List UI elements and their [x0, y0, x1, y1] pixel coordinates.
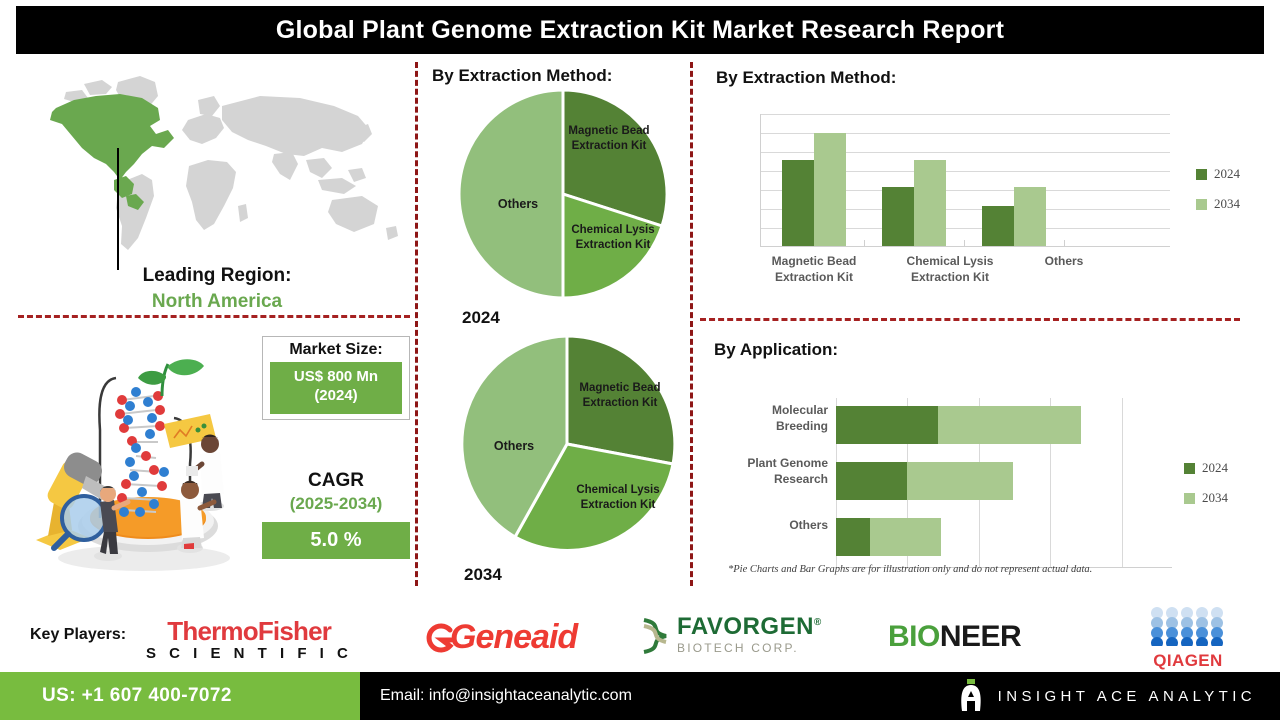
legend-label-2034: 2034 [1202, 490, 1228, 506]
gridline [760, 114, 1170, 115]
segment-2034-plant-genome-research [907, 462, 1013, 500]
pie-2034-slice-label-1: Chemical Lysis Extraction Kit [576, 484, 659, 511]
pie-2024-slice-label-2: Others [498, 197, 538, 211]
application-category-label-others: Others [724, 518, 828, 534]
logo-thermo-fisher: ThermoFisher S C I E N T I F I C [146, 618, 352, 664]
world-map [22, 68, 412, 258]
market-size-card: Market Size: US$ 800 Mn (2024) [262, 336, 410, 420]
insight-ace-logo-icon [958, 679, 984, 713]
logo-qiagen: QIAGEN [1148, 606, 1228, 671]
qiagen-dots-icon [1148, 606, 1228, 646]
application-category-label-molecular-breeding: Molecular Breeding [724, 403, 828, 434]
registered-mark-icon: ® [814, 617, 822, 628]
bar-2024-chemical-lysis [882, 187, 914, 246]
pie-2024-slice-label-1: Chemical Lysis Extraction Kit [571, 224, 654, 251]
pie-2034-label-others: Others [474, 438, 554, 455]
pie-2024-label-others: Others [478, 196, 558, 213]
logo-geneaid-text: Geneaid [450, 618, 577, 657]
legend-swatch-2024 [1184, 463, 1195, 474]
biotech-illustration [24, 352, 264, 588]
logo-qiagen-text: QIAGEN [1148, 651, 1228, 671]
divider-vertical-right [690, 62, 693, 586]
market-size-value: US$ 800 Mn [294, 368, 378, 385]
bar-chart-extraction-method [760, 114, 1170, 246]
logo-favorgen-line2: BIOTECH CORP. [677, 639, 822, 657]
logo-thermo-fisher-line1: ThermoFisher [146, 618, 352, 644]
legend-swatch-2034 [1196, 199, 1207, 210]
bar-2024-magnetic-bead [782, 160, 814, 246]
market-size-year: (2024) [314, 387, 357, 404]
phone-number: US: +1 607 400-7072 [0, 685, 232, 707]
bar-2034-chemical-lysis [914, 160, 946, 246]
segment-2034-others [870, 518, 941, 556]
divider-horizontal-left [18, 315, 410, 318]
pie-2034-label-chemical-lysis: Chemical Lysis Extraction Kit [560, 483, 676, 513]
tick-separator [964, 240, 965, 247]
favorgen-name: FAVORGEN [677, 613, 814, 640]
key-players-label: Key Players: [30, 626, 126, 644]
legend-label-2024: 2024 [1214, 166, 1240, 182]
phone-block: US: +1 607 400-7072 [0, 672, 360, 720]
legend-label-2024: 2024 [1202, 460, 1228, 476]
legend-label-2034: 2034 [1214, 196, 1240, 212]
bar-category-label-magnetic-bead: Magnetic Bead Extraction Kit [762, 254, 866, 285]
application-section-heading: By Application: [714, 340, 838, 360]
pie-2034-slice-label-0: Magnetic Bead Extraction Kit [579, 382, 660, 409]
report-title-bar: Global Plant Genome Extraction Kit Marke… [16, 6, 1264, 54]
map-leader-line [117, 148, 119, 270]
logo-bioneer: BIONEER [888, 620, 1021, 654]
stacked-bar-others [836, 518, 1172, 556]
market-size-value-box: US$ 800 Mn (2024) [270, 362, 402, 414]
bar-2034-others [1014, 187, 1046, 246]
tick-separator [1064, 240, 1065, 247]
app-cat-1: Plant Genome Research [747, 456, 828, 486]
favorgen-helix-icon [638, 614, 672, 658]
bar-2024-others [982, 206, 1014, 246]
x-axis [760, 246, 1170, 247]
pie-2034-year: 2034 [464, 565, 502, 585]
segment-2024-others [836, 518, 870, 556]
contact-bar: US: +1 607 400-7072 Email: info@insighta… [0, 672, 1280, 720]
logo-bioneer-line1: BIO [888, 620, 940, 653]
cagr-value: 5.0 % [262, 522, 410, 559]
app-cat-0: Molecular Breeding [772, 403, 828, 433]
segment-2034-molecular-breeding [938, 406, 1081, 444]
north-america-region [50, 94, 174, 210]
email-address: Email: info@insightaceanalytic.com [380, 687, 632, 705]
bar-category-label-chemical-lysis: Chemical Lysis Extraction Kit [898, 254, 1002, 285]
bar-chart-application [836, 398, 1172, 568]
logo-bioneer-line2: NEER [940, 620, 1021, 653]
logo-favorgen-line1: FAVORGEN® [677, 615, 822, 639]
bar-cat-0: Magnetic Bead Extraction Kit [772, 254, 857, 284]
app-cat-2: Others [789, 518, 828, 532]
cagr-period: (2025-2034) [262, 494, 410, 514]
pie-2034-label-magnetic-bead: Magnetic Bead Extraction Kit [566, 381, 674, 411]
y-axis [760, 114, 761, 246]
brand-name: INSIGHT ACE ANALYTIC [998, 688, 1256, 705]
leading-region-value: North America [22, 291, 412, 313]
leading-region-label: Leading Region: [22, 265, 412, 287]
pie-2034-slice-label-2: Others [494, 439, 534, 453]
legend-item-2034: 2034 [1184, 490, 1228, 506]
logo-thermo-fisher-line2: S C I E N T I F I C [146, 644, 352, 664]
bar-category-label-others: Others [1012, 254, 1116, 270]
legend-item-2024: 2024 [1184, 460, 1228, 476]
chart-footnote: *Pie Charts and Bar Graphs are for illus… [728, 564, 1228, 575]
page-title: Global Plant Genome Extraction Kit Marke… [276, 16, 1004, 45]
bar-cat-2: Others [1045, 254, 1084, 268]
email-block: Email: info@insightaceanalytic.com [380, 672, 632, 720]
bar-section-heading: By Extraction Method: [716, 68, 896, 88]
segment-2024-molecular-breeding [836, 406, 938, 444]
stacked-bar-molecular-breeding [836, 406, 1172, 444]
pie-section-heading: By Extraction Method: [432, 66, 612, 86]
application-category-label-plant-genome-research: Plant Genome Research [714, 456, 828, 487]
legend-swatch-2034 [1184, 493, 1195, 504]
pie-2024-label-chemical-lysis: Chemical Lysis Extraction Kit [557, 223, 669, 253]
cagr-label: CAGR [262, 470, 410, 492]
logo-geneaid: Geneaid [424, 618, 577, 657]
application-chart-legend: 2024 2034 [1184, 460, 1228, 520]
stacked-bar-plant-genome-research [836, 462, 1172, 500]
cagr-block: CAGR (2025-2034) 5.0 % [262, 470, 410, 559]
divider-vertical-left [415, 62, 418, 586]
infographic-page: Global Plant Genome Extraction Kit Marke… [0, 0, 1280, 720]
brand-block: INSIGHT ACE ANALYTIC [958, 672, 1256, 720]
pie-2024-label-magnetic-bead: Magnetic Bead Extraction Kit [553, 124, 665, 154]
bar-2034-magnetic-bead [814, 133, 846, 246]
market-size-label: Market Size: [270, 341, 402, 359]
bar-cat-1: Chemical Lysis Extraction Kit [907, 254, 994, 284]
logo-favorgen: FAVORGEN® BIOTECH CORP. [638, 614, 822, 658]
pie-chart-2024 [455, 86, 671, 302]
legend-swatch-2024 [1196, 169, 1207, 180]
legend-item-2034: 2034 [1196, 196, 1240, 212]
divider-horizontal-right [700, 318, 1240, 321]
leading-region-block: Leading Region: North America [22, 265, 412, 313]
pie-2024-slice-label-0: Magnetic Bead Extraction Kit [568, 125, 649, 152]
legend-item-2024: 2024 [1196, 166, 1240, 182]
pie-2024-year: 2024 [462, 308, 500, 328]
bar-chart-legend: 2024 2034 [1196, 166, 1240, 226]
tick-separator [864, 240, 865, 247]
segment-2024-plant-genome-research [836, 462, 907, 500]
